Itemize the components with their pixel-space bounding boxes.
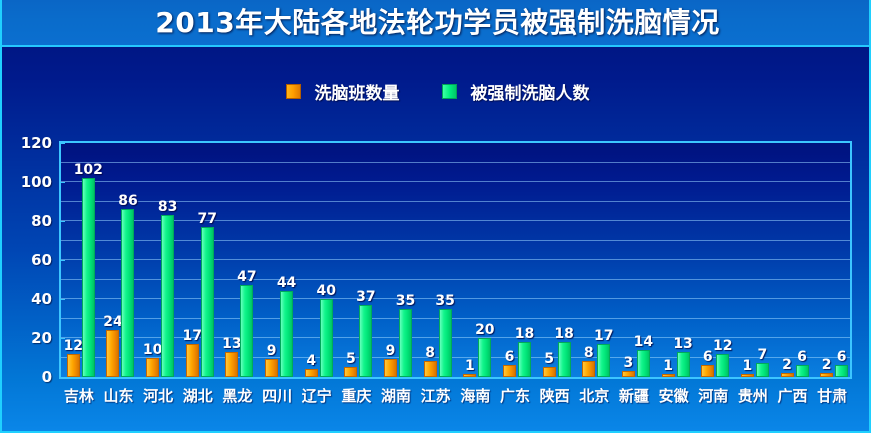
bar-value-label: 18 xyxy=(515,327,534,342)
chart-legend: 洗脑班数量被强制洗脑人数 xyxy=(2,78,871,104)
y-axis-tick-label: 60 xyxy=(2,251,52,269)
bar-people: 18 xyxy=(518,342,531,377)
y-axis: 020406080100120 xyxy=(2,141,52,379)
x-axis-category-label: 陕西 xyxy=(535,385,575,407)
bar-value-label: 35 xyxy=(396,294,415,309)
page-title: 2013年大陆各地法轮功学员被强制洗脑情况 xyxy=(2,0,871,45)
y-axis-tick-mark xyxy=(59,182,65,183)
bar-people: 14 xyxy=(637,350,650,377)
y-axis-tick-label: 100 xyxy=(2,173,52,191)
bar-value-label: 3 xyxy=(624,356,634,371)
y-axis-tick-mark xyxy=(59,143,65,144)
x-axis-labels: 吉林山东河北湖北黑龙四川辽宁重庆湖南江苏海南广东陕西北京新疆安徽河南贵州广西甘肃 xyxy=(59,385,852,415)
bar-classes: 10 xyxy=(146,358,159,378)
title-band: 2013年大陆各地法轮功学员被强制洗脑情况 xyxy=(2,0,871,47)
bar-value-label: 12 xyxy=(64,339,83,354)
bar-classes: 2 xyxy=(781,373,794,377)
bar-classes: 4 xyxy=(305,369,318,377)
bar-classes: 1 xyxy=(463,374,476,377)
bar-value-label: 35 xyxy=(435,294,454,309)
bar-value-label: 47 xyxy=(237,270,256,285)
x-axis-category-label: 湖北 xyxy=(178,385,218,407)
bar-value-label: 5 xyxy=(544,352,554,367)
y-axis-tick-label: 120 xyxy=(2,134,52,152)
x-axis-category-label: 湖南 xyxy=(376,385,416,407)
bar-classes: 12 xyxy=(67,354,80,377)
x-axis-category-label: 安徽 xyxy=(654,385,694,407)
x-axis-category-label: 广东 xyxy=(495,385,535,407)
x-axis-category-label: 辽宁 xyxy=(297,385,337,407)
legend-label: 洗脑班数量 xyxy=(315,79,400,104)
x-axis-category-label: 海南 xyxy=(456,385,496,407)
x-axis-category-label: 吉林 xyxy=(59,385,99,407)
bar-classes: 5 xyxy=(543,367,556,377)
bar-classes: 24 xyxy=(106,330,119,377)
bar-value-label: 6 xyxy=(703,350,713,365)
bar-value-label: 40 xyxy=(316,284,335,299)
bar-value-label: 12 xyxy=(713,339,732,354)
bar-people: 40 xyxy=(320,299,333,377)
bar-classes: 9 xyxy=(384,359,397,377)
x-axis-category-label: 贵州 xyxy=(733,385,773,407)
bar-people: 6 xyxy=(835,365,848,377)
bar-value-label: 17 xyxy=(183,329,202,344)
bar-people: 18 xyxy=(558,342,571,377)
bar-people: 35 xyxy=(399,309,412,377)
bar-people: 12 xyxy=(716,354,729,377)
bar-value-label: 18 xyxy=(554,327,573,342)
bar-value-label: 2 xyxy=(782,358,792,373)
chart-page: 2013年大陆各地法轮功学员被强制洗脑情况 洗脑班数量被强制洗脑人数 02040… xyxy=(0,0,871,433)
bar-classes: 8 xyxy=(582,361,595,377)
bar-value-label: 10 xyxy=(143,343,162,358)
bar-people: 86 xyxy=(121,209,134,377)
bar-value-label: 6 xyxy=(837,350,847,365)
legend-item: 洗脑班数量 xyxy=(286,79,400,104)
bar-classes: 2 xyxy=(820,373,833,377)
bar-value-label: 7 xyxy=(758,348,768,363)
legend-item: 被强制洗脑人数 xyxy=(442,79,590,104)
y-axis-tick-mark xyxy=(59,221,65,222)
bar-people: 35 xyxy=(439,309,452,377)
bar-value-label: 20 xyxy=(475,323,494,338)
bar-people: 20 xyxy=(478,338,491,377)
bar-classes: 1 xyxy=(662,374,675,377)
bar-people: 47 xyxy=(240,285,253,377)
bar-value-label: 13 xyxy=(673,337,692,352)
x-axis-category-label: 黑龙 xyxy=(218,385,258,407)
bar-people: 83 xyxy=(161,215,174,377)
bar-value-label: 83 xyxy=(158,200,177,215)
y-axis-tick-mark xyxy=(59,260,65,261)
bar-value-label: 37 xyxy=(356,290,375,305)
x-axis-category-label: 河北 xyxy=(138,385,178,407)
bar-people: 44 xyxy=(280,291,293,377)
y-axis-tick-label: 80 xyxy=(2,212,52,230)
y-axis-tick-mark xyxy=(59,338,65,339)
bar-people: 102 xyxy=(82,178,95,377)
bar-classes: 5 xyxy=(344,367,357,377)
x-axis-category-label: 北京 xyxy=(574,385,614,407)
x-axis-category-label: 山东 xyxy=(99,385,139,407)
bar-value-label: 1 xyxy=(743,359,753,374)
bar-people: 77 xyxy=(201,227,214,377)
legend-label: 被强制洗脑人数 xyxy=(471,79,590,104)
bar-classes: 9 xyxy=(265,359,278,377)
bar-value-label: 86 xyxy=(118,194,137,209)
bar-value-label: 4 xyxy=(306,354,316,369)
plot-wrapper: 1210224861083177713479444405379358351206… xyxy=(59,141,852,379)
y-axis-tick-mark xyxy=(59,377,65,378)
bar-value-label: 77 xyxy=(198,212,217,227)
bar-classes: 8 xyxy=(424,361,437,377)
bar-value-label: 9 xyxy=(386,344,396,359)
bar-people: 13 xyxy=(677,352,690,377)
bar-value-label: 13 xyxy=(222,337,241,352)
plot-area: 1210224861083177713479444405379358351206… xyxy=(59,141,852,379)
bar-value-label: 102 xyxy=(74,163,103,178)
x-axis-category-label: 四川 xyxy=(257,385,297,407)
y-axis-tick-label: 0 xyxy=(2,368,52,386)
bar-classes: 1 xyxy=(741,374,754,377)
x-axis-category-label: 重庆 xyxy=(337,385,377,407)
x-axis-category-label: 甘肃 xyxy=(812,385,852,407)
bar-classes: 13 xyxy=(225,352,238,377)
bar-people: 7 xyxy=(756,363,769,377)
bar-value-label: 24 xyxy=(103,315,122,330)
bar-value-label: 2 xyxy=(822,358,832,373)
bar-classes: 6 xyxy=(503,365,516,377)
y-axis-tick-label: 20 xyxy=(2,329,52,347)
bars-layer: 1210224861083177713479444405379358351206… xyxy=(61,143,850,377)
bar-people: 37 xyxy=(359,305,372,377)
x-axis-category-label: 河南 xyxy=(693,385,733,407)
legend-swatch-green-icon xyxy=(442,84,457,99)
bar-value-label: 17 xyxy=(594,329,613,344)
x-axis-category-label: 新疆 xyxy=(614,385,654,407)
bar-value-label: 14 xyxy=(634,335,653,350)
y-axis-tick-mark xyxy=(59,299,65,300)
x-axis-category-label: 广西 xyxy=(773,385,813,407)
bar-value-label: 6 xyxy=(797,350,807,365)
bar-value-label: 8 xyxy=(584,346,594,361)
bar-value-label: 6 xyxy=(505,350,515,365)
bar-value-label: 8 xyxy=(425,346,435,361)
bar-value-label: 1 xyxy=(465,359,475,374)
bar-value-label: 1 xyxy=(663,359,673,374)
bar-classes: 17 xyxy=(186,344,199,377)
y-axis-tick-label: 40 xyxy=(2,290,52,308)
legend-swatch-orange-icon xyxy=(286,84,301,99)
x-axis-category-label: 江苏 xyxy=(416,385,456,407)
bar-people: 17 xyxy=(597,344,610,377)
bar-people: 6 xyxy=(796,365,809,377)
bar-value-label: 44 xyxy=(277,276,296,291)
bar-value-label: 9 xyxy=(267,344,277,359)
bar-value-label: 5 xyxy=(346,352,356,367)
bar-classes: 3 xyxy=(622,371,635,377)
bar-classes: 6 xyxy=(701,365,714,377)
